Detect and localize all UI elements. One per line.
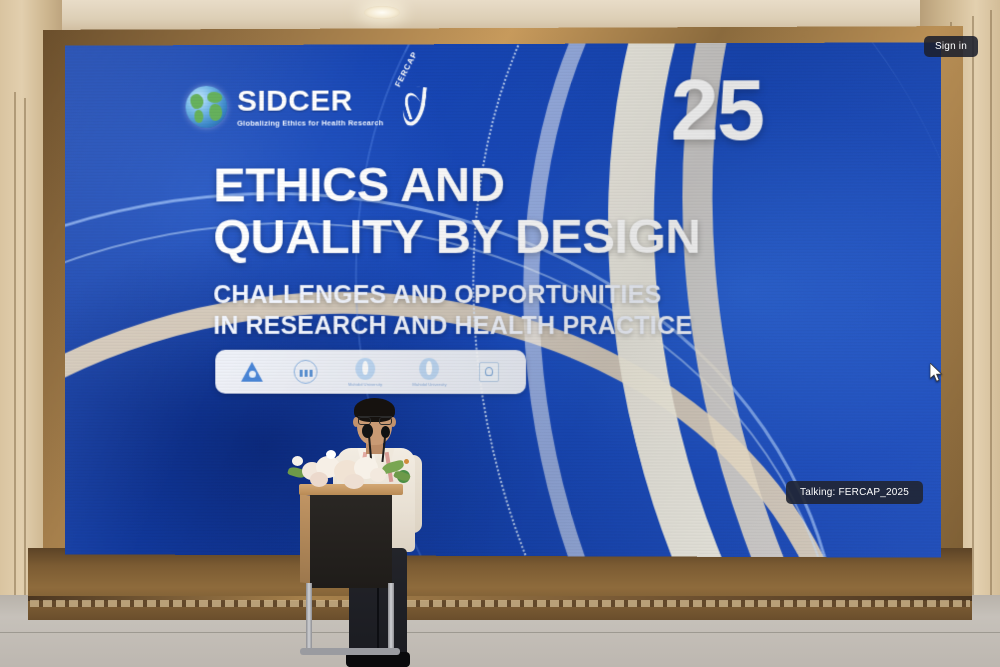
podium-foot [300, 648, 400, 655]
screenshot-stage: SIDCER Globalizing Ethics for Health Res… [0, 0, 1000, 667]
mouse-pointer-icon [930, 363, 944, 383]
podium-leg-right [388, 583, 394, 653]
microphone-head-1 [362, 424, 373, 438]
speaker-and-podium [0, 0, 1000, 667]
podium-front-panel [310, 495, 392, 588]
active-speaker-badge: Talking: FERCAP_2025 [786, 481, 923, 504]
podium-leg-left [306, 583, 312, 653]
speaker-glasses [358, 416, 392, 425]
flower-arrangement [286, 448, 412, 492]
microphone-head-2 [381, 426, 390, 438]
sign-in-button[interactable]: Sign in [924, 36, 978, 57]
